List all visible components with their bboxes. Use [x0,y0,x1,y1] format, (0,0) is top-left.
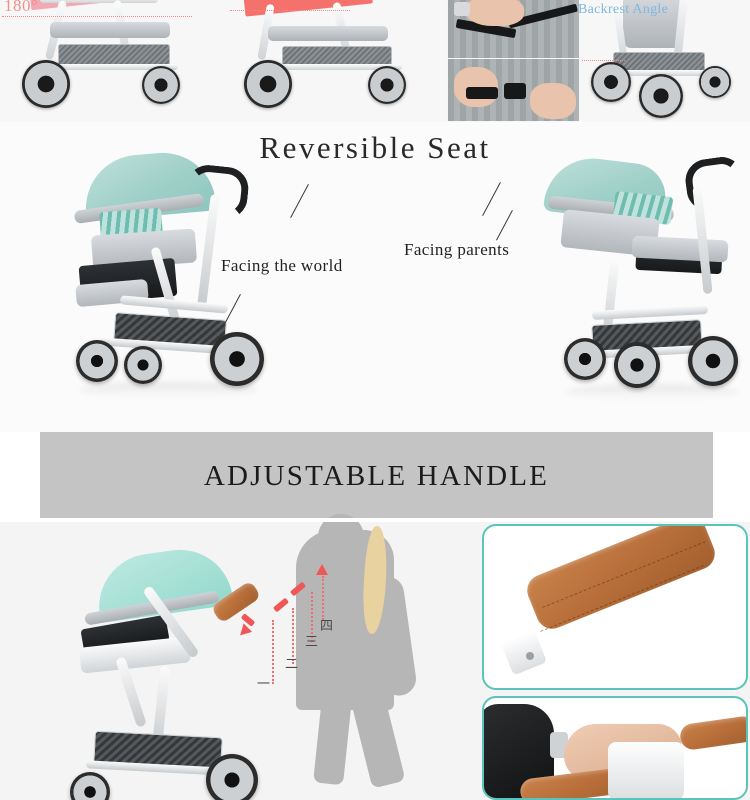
arrow-dash-2 [292,608,294,664]
panel-stroller-backrest-angle [581,0,750,122]
rear-wheel [210,332,264,386]
reversible-seat-section: Reversible Seat [0,122,750,432]
rear-wheel-far [699,66,731,98]
floor-reflection [78,382,258,398]
hand [466,0,524,26]
card-leather-handle-closeup [482,524,748,690]
stroller-illustration [581,0,750,122]
wristwatch [454,2,470,16]
handlebar [683,154,748,214]
panel-harness-buckle-bottom [448,59,579,121]
adjustable-handle-banner: ADJUSTABLE HANDLE [40,432,713,520]
front-wheel [244,60,292,108]
rear-wheel [688,336,738,386]
panel-stroller-reclined-180: 180° [0,0,228,122]
rear-wheel [206,754,258,800]
card-hand-adjusting-handle [482,696,748,800]
storage-basket [282,46,392,66]
handle-position-label-4: 四 [320,620,333,633]
front-wheel [70,772,110,800]
arrow-dash-4 [322,576,324,620]
handle-position-label-3: 三 [305,636,318,649]
caption-facing-world: Facing the world [221,256,343,276]
angle-label: 180° [4,0,38,16]
buckle-female [504,83,526,99]
measure-dotted-line [2,16,192,17]
section-divider [0,518,750,522]
rear-wheel [368,66,406,104]
leather-grip-upper [679,715,748,751]
handle-position-label-1: 一 [257,678,270,691]
arrow-dash-1 [272,620,274,684]
seat-shape [50,22,170,38]
rear-wheel [142,66,180,104]
front-wheel-left [564,338,606,380]
front-wheel-right [614,342,660,388]
front-wheel-right [124,346,162,384]
pointer-line-parents-a [482,182,501,216]
rear-wheel [591,62,631,102]
adjustable-handle-section: 一 二 三 四 [0,520,750,800]
top-feature-strip: 180° [0,0,750,122]
stroller-facing-parents [540,150,750,400]
person-silhouette-leg-right [348,683,405,788]
arrow-head-4 [316,564,328,575]
measure-dotted-line [581,60,625,61]
measure-dotted-line [230,10,350,11]
stroller-illustration [0,0,228,122]
rivet-icon [526,652,534,660]
pointer-line-parents-b [496,210,513,240]
storage-basket [58,44,170,66]
buckle-photo [448,59,579,121]
panel-harness-buckle-top [448,0,579,58]
floor-reflection [566,384,738,400]
stroller-handle-demo [60,538,320,800]
panel-stroller-recline-angle [230,0,445,122]
hand-right [530,83,576,119]
product-feature-page: 180° [0,0,750,800]
front-wheel [22,60,70,108]
caption-facing-parents: Facing parents [404,240,509,260]
front-wheel-left [76,340,118,382]
recline-angle-block [243,0,373,17]
buckle-male [466,87,498,99]
handle-adjust-button[interactable] [608,742,684,800]
seat-shape [268,26,388,41]
front-wheel [639,74,683,118]
banner-title: ADJUSTABLE HANDLE [204,460,549,493]
handle-position-label-2: 二 [285,658,298,671]
handle-end-cap [501,630,547,675]
stroller-illustration [230,0,445,122]
backrest-angle-label: Backrest Angle [578,2,668,18]
buckle-photo [448,0,579,58]
leather-grip [522,524,719,634]
